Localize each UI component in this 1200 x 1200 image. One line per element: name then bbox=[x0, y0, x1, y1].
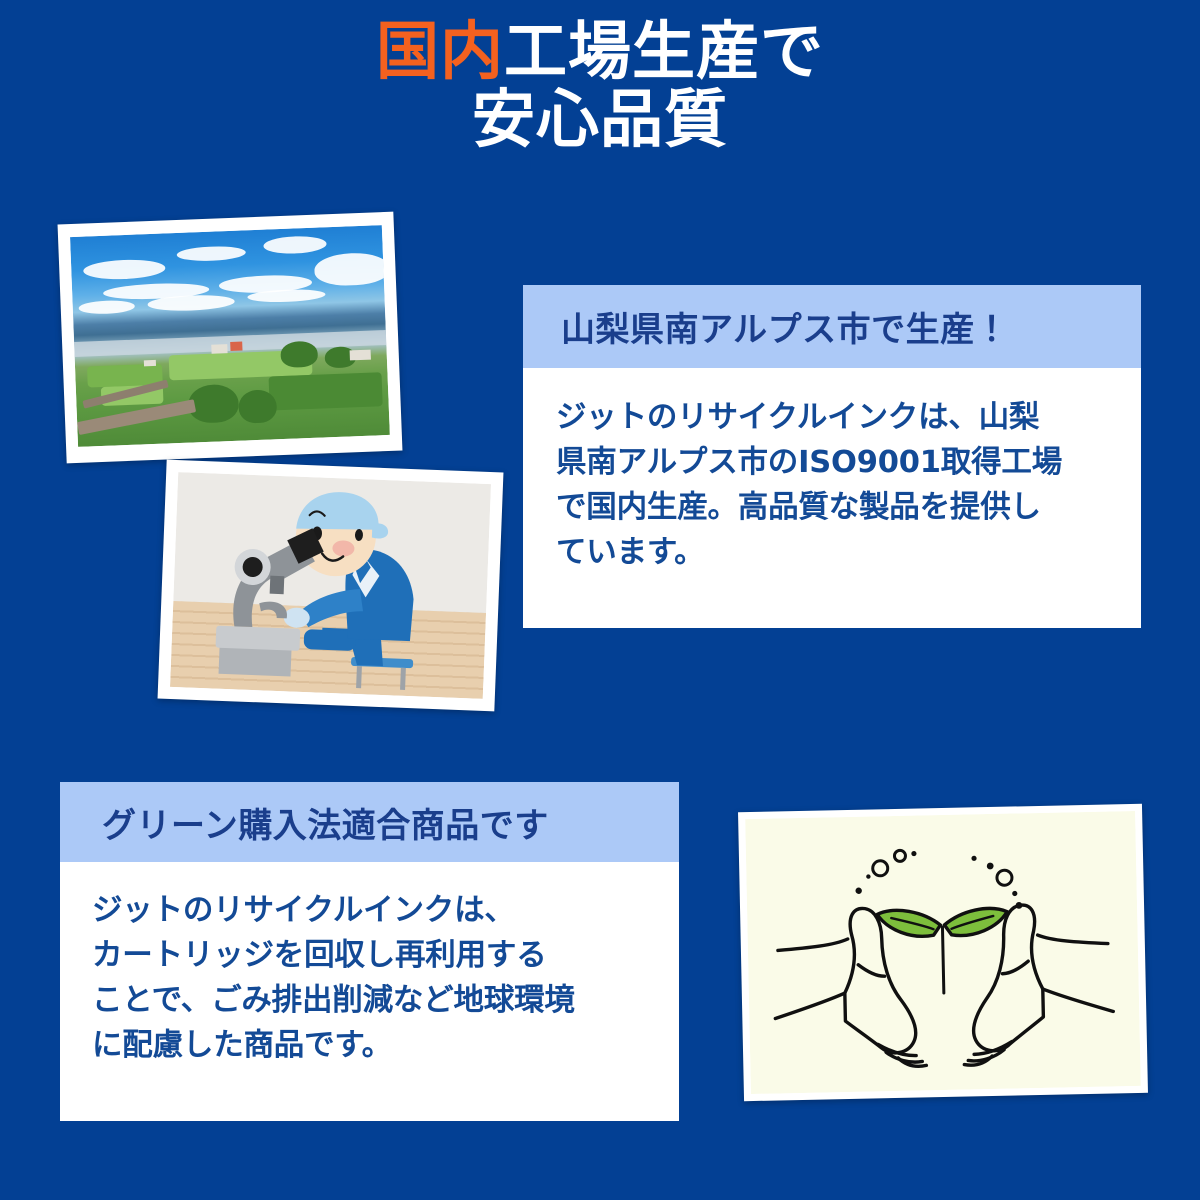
eco-photo-frame bbox=[738, 804, 1148, 1101]
landscape-photo-inner bbox=[70, 225, 390, 447]
title-line-2: 安心品質 bbox=[0, 86, 1200, 154]
production-body-line-1: ジットのリサイクルインクは、山梨 bbox=[556, 395, 1117, 440]
production-card-header: 山梨県南アルプス市で生産！ bbox=[523, 285, 1141, 368]
green-body-line-2: カートリッジを回収し再利用する bbox=[92, 933, 659, 978]
landscape-photo-image bbox=[70, 225, 390, 447]
green-body-line-4: に配慮した商品です。 bbox=[92, 1023, 659, 1068]
production-body-line-4: ています。 bbox=[556, 530, 1117, 575]
title-rest-text: 工場生産で bbox=[504, 15, 824, 88]
page-title: 国内工場生産で 安心品質 bbox=[0, 18, 1200, 154]
green-info-card: グリーン購入法適合商品です ジットのリサイクルインクは、 カートリッジを回収し再… bbox=[60, 782, 679, 1121]
production-body-line-3: で国内生産。高品質な製品を提供し bbox=[556, 485, 1117, 530]
hands-sprout-svg bbox=[745, 811, 1141, 1094]
production-info-card: 山梨県南アルプス市で生産！ ジットのリサイクルインクは、山梨 県南アルプス市のI… bbox=[523, 285, 1141, 628]
title-line-1: 国内工場生産で bbox=[0, 18, 1200, 86]
microscope-photo-inner bbox=[170, 472, 491, 699]
landscape-photo-frame bbox=[58, 212, 403, 464]
green-body-line-3: ことで、ごみ排出削減など地球環境 bbox=[92, 978, 659, 1023]
eco-photo-inner bbox=[745, 811, 1141, 1094]
eco-illustration-image bbox=[745, 811, 1141, 1094]
microscope-photo-frame bbox=[158, 460, 504, 712]
worker-microscope-svg bbox=[170, 472, 491, 699]
production-card-body: ジットのリサイクルインクは、山梨 県南アルプス市のISO9001取得工場 で国内… bbox=[523, 368, 1141, 576]
green-body-line-1: ジットのリサイクルインクは、 bbox=[92, 888, 659, 933]
green-card-header: グリーン購入法適合商品です bbox=[60, 782, 679, 862]
green-card-body: ジットのリサイクルインクは、 カートリッジを回収し再利用する ことで、ごみ排出削… bbox=[60, 862, 679, 1069]
production-body-line-2: 県南アルプス市のISO9001取得工場 bbox=[556, 440, 1117, 485]
title-accent-text: 国内 bbox=[376, 15, 504, 88]
microscope-illustration-image bbox=[170, 472, 491, 699]
